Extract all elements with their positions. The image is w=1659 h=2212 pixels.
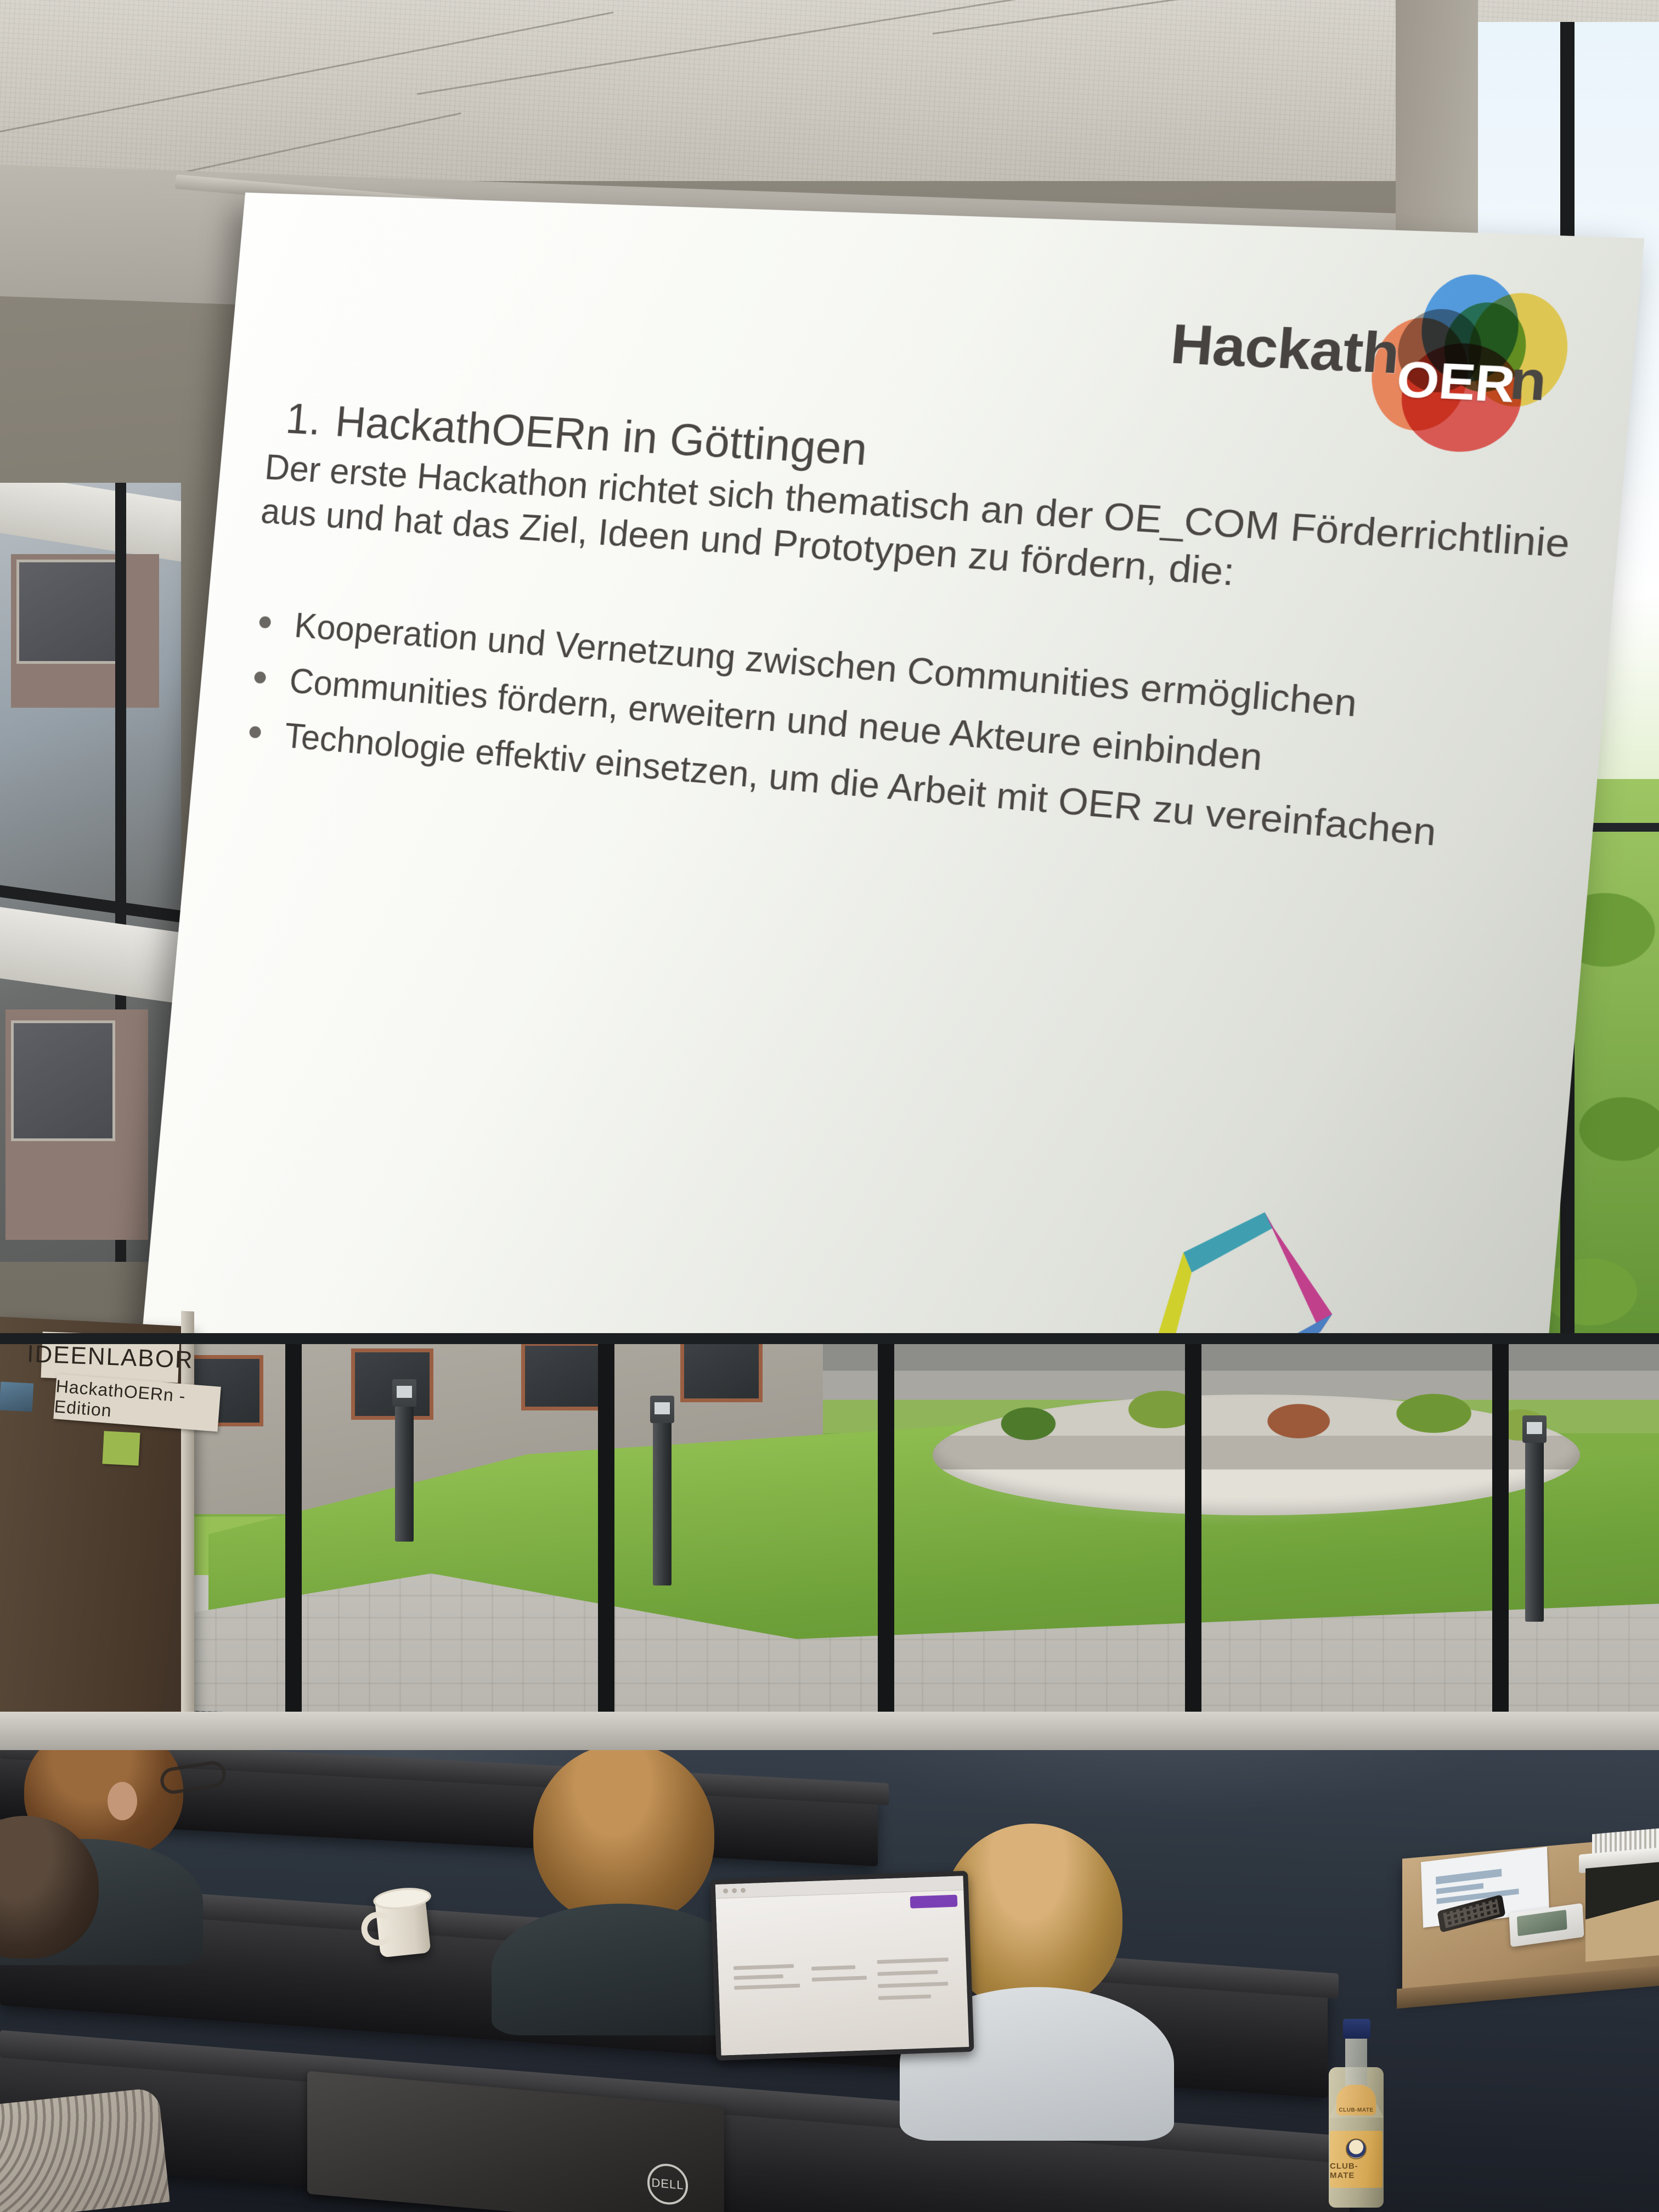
club-mate-bottle: CLUB-MATE CLUB-MATE bbox=[1324, 2015, 1389, 2208]
coffee-mug bbox=[374, 1891, 431, 1957]
bottle-neck-label: CLUB-MATE bbox=[1336, 2085, 1376, 2115]
pinned-photo bbox=[0, 1381, 33, 1412]
slide-title-number: 1. bbox=[284, 394, 323, 443]
dell-logo: DELL bbox=[647, 2162, 688, 2206]
slide-bullet-list: Kooperation und Vernetzung zwischen Comm… bbox=[243, 601, 1562, 880]
audience-head bbox=[533, 1743, 714, 1925]
lecture-hall-scene: Hackath OER n 1.HackathOERn in Götting bbox=[0, 0, 1659, 2212]
audience-shoulders bbox=[492, 1904, 749, 2035]
bollard-light bbox=[395, 1404, 414, 1542]
left-glass-wall bbox=[0, 483, 181, 1262]
brand-oer-text: OER bbox=[1394, 350, 1517, 414]
bottle-cap bbox=[1343, 2019, 1370, 2039]
mate-emblem-icon bbox=[1346, 2138, 1367, 2159]
hackathoern-logo: Hackath OER n bbox=[1164, 266, 1577, 443]
bottle-main-label: CLUB-MATE bbox=[1330, 2131, 1383, 2188]
knit-sweater bbox=[0, 2087, 170, 2212]
audience-laptop[interactable] bbox=[710, 1871, 974, 2061]
ear bbox=[108, 1782, 137, 1820]
brand-blob-mark: OER n bbox=[1370, 274, 1577, 443]
bollard-light bbox=[1525, 1441, 1544, 1622]
bollard-light bbox=[653, 1421, 672, 1585]
courtyard-glass-facade bbox=[0, 1333, 1659, 1750]
laptop-accent-button bbox=[910, 1895, 958, 1909]
brand-wordmark: Hackath bbox=[1169, 317, 1402, 383]
equipment-rack bbox=[1585, 1862, 1659, 1962]
slide-lead-paragraph: Der erste Hackathon richtet sich themati… bbox=[259, 445, 1584, 618]
window-sill bbox=[0, 1712, 1659, 1750]
sticky-note bbox=[102, 1431, 140, 1465]
planter-plants bbox=[955, 1384, 1569, 1448]
brand-n-text: n bbox=[1507, 349, 1548, 413]
